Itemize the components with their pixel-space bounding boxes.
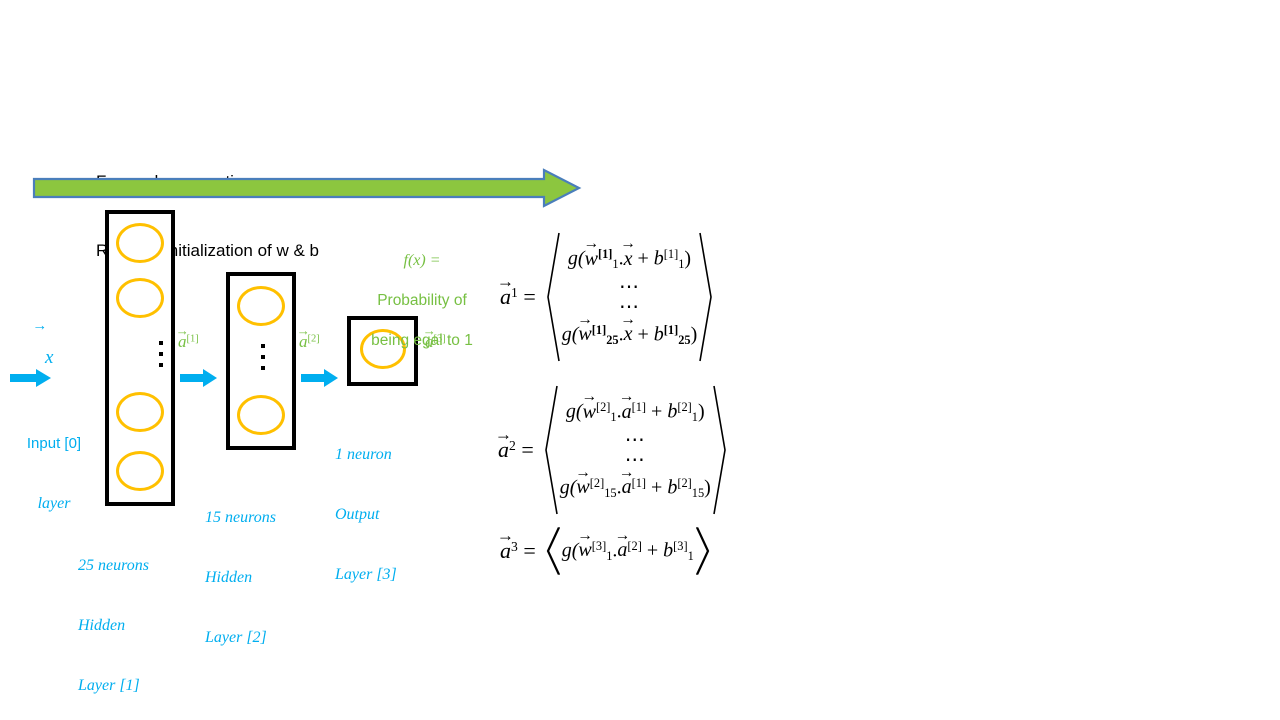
neuron [116,223,164,263]
equation-a3: →a3 = g(→w[3]1.→a[2] + b[3]1 [500,527,710,575]
equation-a3-row: g(→w[3]1.→a[2] + b[3]1 [562,533,694,569]
layer-3-caption: 1 neuron Output Layer [3] [335,405,397,605]
left-angle-bracket-icon [544,385,558,515]
activation-1-label: →a[1] [178,332,199,352]
layer-2-caption: 15 neurons Hidden Layer [2] [205,468,276,668]
equation-a1-ellipsis: ⋯ [619,277,640,297]
fx-line-2: being egal to 1 [352,331,492,351]
layer-1-index: Layer [1] [78,676,149,696]
equation-a3-lhs: →a3 = [500,538,536,564]
neuron [116,278,164,318]
layer-3-neuron-count: 1 neuron [335,445,397,465]
fx-formula: f(x) = [352,251,492,271]
vertical-ellipsis-icon [259,344,266,370]
right-arrow-icon [10,368,52,388]
vector-accent-icon: → [497,273,514,290]
long-right-arrow-icon [32,168,582,208]
equation-a3-vector: g(→w[3]1.→a[2] + b[3]1 [546,527,710,575]
equation-a1-vector: g(→w[1]1.→x + b[1]1) ⋯ ⋯ g(→w[1]25.→x + … [546,232,714,362]
equation-a1: →a1 = g(→w[1]1.→x + b[1]1) ⋯ ⋯ g(→w[1]25… [500,232,713,362]
equation-a1-lhs: →a1 = [500,284,536,310]
layer-3-type: Output [335,505,397,525]
layer-3-index: Layer [3] [335,565,397,585]
layer-2-neuron-count: 15 neurons [205,508,276,528]
input-layer-line-1: Input [0] [12,434,96,454]
input-blue-arrow [10,368,52,393]
layer-2-type: Hidden [205,568,276,588]
right-arrow-icon [180,368,218,388]
input-layer-caption: Input [0] layer [12,394,96,534]
layer-1-type: Hidden [78,616,149,636]
left-angle-bracket-icon [546,232,560,362]
vector-accent-icon: → [32,319,47,334]
equation-a2-row: g(→w[2]15.→a[1] + b[2]15) [560,470,711,506]
activation-2-label: →a[2] [299,332,320,352]
right-arrow-icon [301,368,339,388]
neuron [237,286,285,326]
vector-accent-icon: → [495,426,512,443]
layer-2-index: Layer [2] [205,628,276,648]
input-layer-line-2: layer [12,494,96,514]
layer-1-box [105,210,175,506]
forward-propagation-arrow [32,168,582,208]
neuron [116,451,164,491]
right-angle-bracket-icon [696,527,710,575]
layer-1-neuron-count: 25 neurons [78,556,149,576]
neuron [237,395,285,435]
neuron [116,392,164,432]
vertical-ellipsis-icon [157,341,164,367]
vector-accent-icon: → [176,324,189,337]
right-angle-bracket-icon [713,385,727,515]
output-probability-note: f(x) = Probability of being egal to 1 [352,231,492,371]
layer-1-caption: 25 neurons Hidden Layer [1] [78,516,149,716]
vector-accent-icon: → [297,324,310,337]
equation-a2-row: g(→w[2]1.→a[1] + b[2]1) [566,394,705,430]
equation-a2-vector: g(→w[2]1.→a[1] + b[2]1) ⋯ ⋯ g(→w[2]15.→a… [544,385,727,515]
fx-line-1: Probability of [352,291,492,311]
layer-2-box [226,272,296,450]
equation-a2: →a2 = g(→w[2]1.→a[1] + b[2]1) ⋯ ⋯ g(→w[2… [498,385,727,515]
equation-a2-ellipsis: ⋯ [625,430,646,450]
vector-accent-icon: → [497,527,514,544]
equation-a1-row: g(→w[1]25.→x + b[1]25) [562,317,698,353]
right-angle-bracket-icon [699,232,713,362]
equation-a2-lhs: →a2 = [498,437,534,463]
left-angle-bracket-icon [546,527,560,575]
layer-2-to-3-blue-arrow [301,368,339,393]
equation-a1-row: g(→w[1]1.→x + b[1]1) [568,241,691,277]
layer-1-to-2-blue-arrow [180,368,218,393]
